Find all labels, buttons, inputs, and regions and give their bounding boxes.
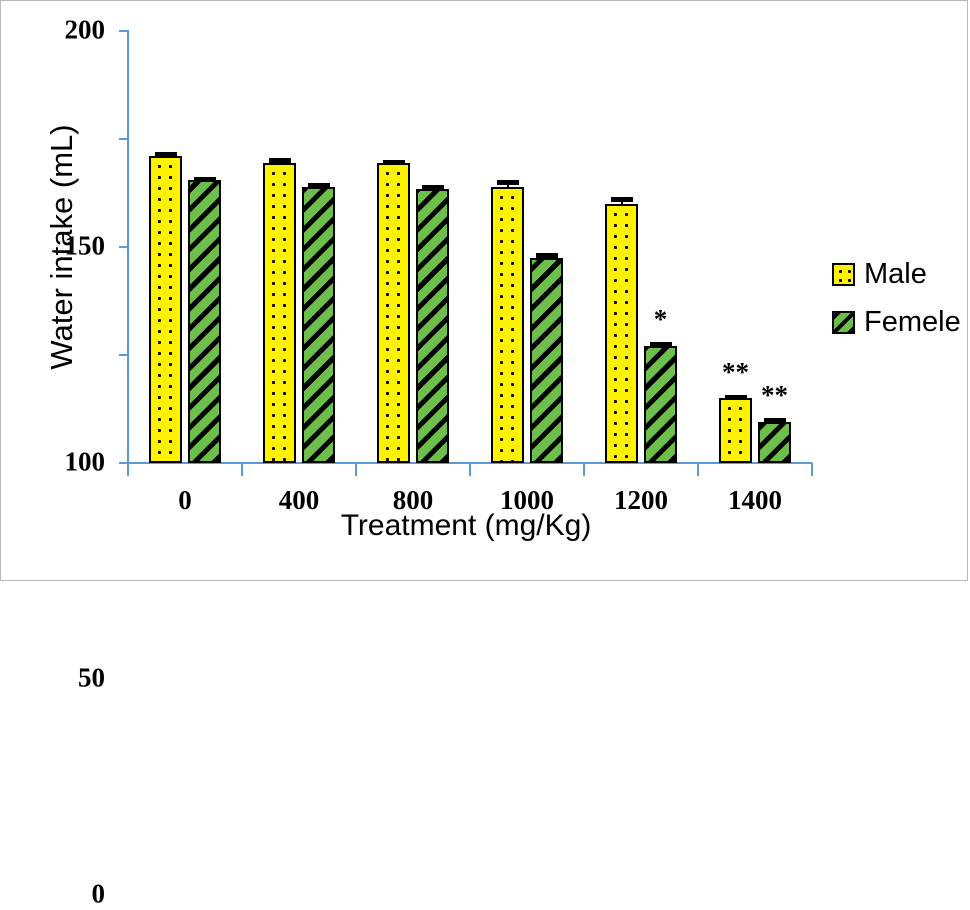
error-bar-cap (269, 158, 291, 163)
chart-legend: Male Femele (832, 250, 962, 346)
legend-item-male[interactable]: Male (832, 250, 962, 298)
bar-female-1000 (530, 258, 563, 463)
x-axis-tick (127, 463, 129, 476)
bar-male-1400 (719, 398, 752, 463)
bar-female-400 (302, 187, 335, 463)
y-axis-tick-label: 50 (78, 663, 105, 694)
y-axis-tick: 150 (119, 138, 129, 140)
x-axis-tick (811, 463, 813, 476)
y-axis-tick-label: 0 (92, 879, 106, 910)
legend-swatch-female-icon (832, 311, 855, 334)
x-axis-tick (583, 463, 585, 476)
x-axis-tick (355, 463, 357, 476)
error-bar-cap (650, 342, 672, 347)
x-axis-tick (469, 463, 471, 476)
x-axis-tick (697, 463, 699, 476)
y-axis-tick: 50 (119, 354, 129, 356)
error-bar-cap (422, 185, 444, 190)
plot-area: 050100150200040080010001200*1400**** (128, 31, 812, 463)
error-bar-cap (611, 197, 633, 202)
significance-marker: ** (761, 382, 788, 409)
error-bar-cap (536, 253, 558, 258)
bar-female-0 (188, 180, 221, 463)
error-bar-cap (194, 177, 216, 182)
error-bar-cap (383, 160, 405, 165)
y-axis-tick: 100 (119, 246, 129, 248)
x-axis-title: Treatment (mg/Kg) (121, 509, 811, 543)
error-bar-cap (497, 180, 519, 185)
y-axis-tick-label: 150 (65, 231, 106, 262)
y-axis-tick-label: 200 (65, 15, 106, 46)
error-bar-cap (308, 183, 330, 188)
bar-female-1400 (758, 422, 791, 463)
chart-figure: Water intake (mL) 0501001502000400800100… (0, 0, 968, 581)
legend-label-male: Male (864, 258, 927, 291)
bar-male-400 (263, 163, 296, 463)
significance-marker: * (654, 306, 668, 333)
bar-male-1200 (605, 204, 638, 463)
legend-item-female[interactable]: Femele (832, 298, 962, 346)
legend-label-female: Femele (864, 306, 961, 339)
bar-female-1200 (644, 346, 677, 463)
y-axis-tick: 200 (119, 30, 129, 32)
y-axis-tick-label: 100 (65, 447, 106, 478)
x-axis-tick (241, 463, 243, 476)
error-bar-cap (155, 152, 177, 157)
significance-marker: ** (722, 359, 749, 386)
bar-male-1000 (491, 187, 524, 463)
bar-female-800 (416, 189, 449, 463)
error-bar-cap (764, 418, 786, 423)
error-bar-cap (725, 395, 747, 400)
bar-male-800 (377, 163, 410, 463)
bar-male-0 (149, 156, 182, 463)
legend-swatch-male-icon (832, 263, 855, 286)
